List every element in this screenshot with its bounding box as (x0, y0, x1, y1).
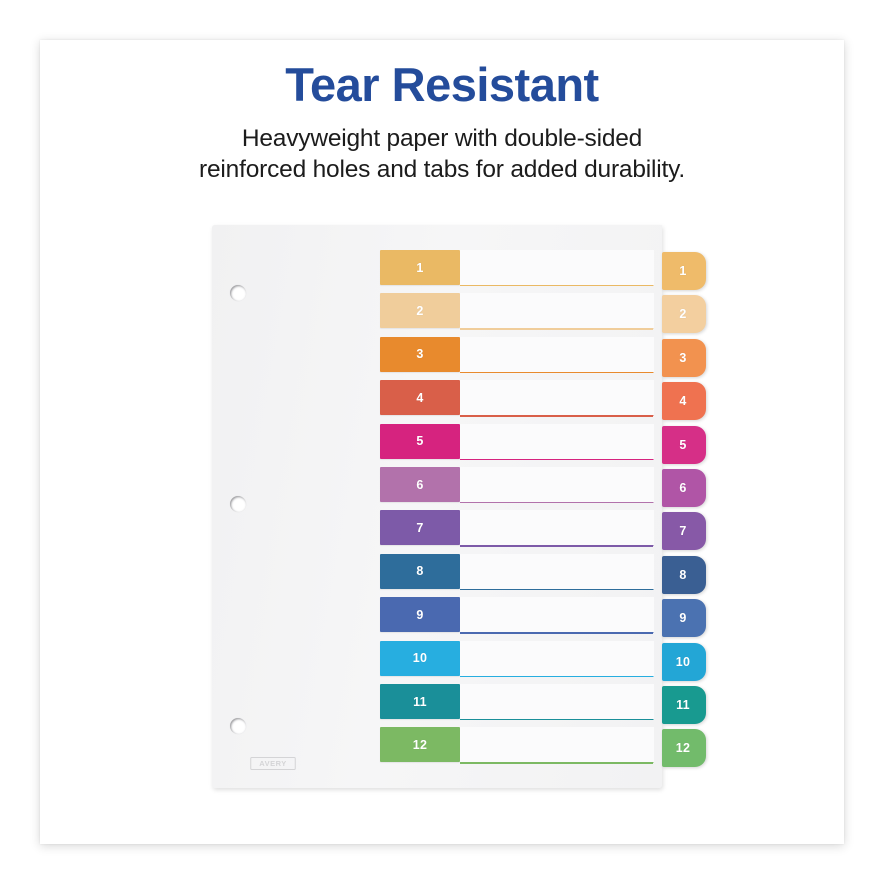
divider-number-block: 3 (380, 337, 460, 372)
divider-edge-tab-label: 12 (676, 741, 691, 755)
divider-edge-tab-label: 8 (679, 568, 686, 582)
divider-number-block: 10 (380, 641, 460, 676)
divider-row: 6 (212, 467, 662, 509)
divider-row: 9 (212, 597, 662, 639)
page-subtitle-line-1: Heavyweight paper with double-sided (40, 123, 844, 154)
divider-write-on-area (460, 467, 654, 503)
divider-write-on-area (460, 554, 654, 590)
divider-write-on-area (460, 250, 654, 286)
divider-write-on-area (460, 510, 654, 546)
divider-number-block: 9 (380, 597, 460, 632)
page-title: Tear Resistant (40, 60, 844, 109)
divider-edge-tab-label: 2 (679, 307, 686, 321)
divider-write-on-area (460, 380, 654, 416)
divider-number-block: 5 (380, 424, 460, 459)
divider-edge-tab: 7 (662, 512, 706, 550)
divider-edge-tab-label: 6 (679, 481, 686, 495)
divider-edge-tab: 3 (662, 339, 706, 377)
divider-write-on-area (460, 424, 654, 460)
page-subtitle-line-2: reinforced holes and tabs for added dura… (40, 154, 844, 185)
divider-number-block: 12 (380, 727, 460, 762)
divider-row: 3 (212, 337, 662, 379)
divider-write-on-area (460, 597, 654, 633)
divider-number-label: 7 (416, 521, 423, 535)
divider-row: 10 (212, 641, 662, 683)
divider-write-on-area (460, 727, 654, 763)
divider-edge-tab: 4 (662, 382, 706, 420)
divider-edge-tab-label: 11 (676, 698, 690, 712)
divider-edge-tab: 8 (662, 556, 706, 594)
divider-number-block: 6 (380, 467, 460, 502)
divider-row: 2 (212, 293, 662, 335)
divider-number-block: 7 (380, 510, 460, 545)
divider-edge-tab: 9 (662, 599, 706, 637)
divider-number-block: 11 (380, 684, 460, 719)
divider-number-label: 10 (413, 651, 428, 665)
divider-sheet: 123456789101112 123456789101112 AVERY (212, 225, 662, 788)
divider-edge-tab: 2 (662, 295, 706, 333)
divider-side-tabs: 123456789101112 (662, 225, 714, 788)
divider-number-block: 4 (380, 380, 460, 415)
divider-edge-tab: 6 (662, 469, 706, 507)
divider-write-on-area (460, 684, 654, 720)
divider-row: 8 (212, 554, 662, 596)
divider-edge-tab: 5 (662, 426, 706, 464)
divider-rows: 123456789101112 (212, 225, 662, 788)
divider-number-label: 1 (416, 261, 423, 275)
divider-sheet-surface: 123456789101112 123456789101112 AVERY (212, 225, 662, 788)
product-card: Tear Resistant Heavyweight paper with do… (40, 40, 844, 844)
divider-edge-tab: 11 (662, 686, 706, 724)
divider-number-block: 2 (380, 293, 460, 328)
divider-number-label: 5 (416, 434, 423, 448)
divider-row: 7 (212, 510, 662, 552)
divider-number-block: 1 (380, 250, 460, 285)
divider-write-on-area (460, 293, 654, 329)
divider-edge-tab: 1 (662, 252, 706, 290)
divider-number-label: 3 (416, 347, 423, 361)
divider-number-label: 11 (413, 695, 427, 709)
divider-write-on-area (460, 337, 654, 373)
divider-number-label: 2 (416, 304, 423, 318)
divider-number-label: 12 (413, 738, 428, 752)
marketing-copy: Tear Resistant Heavyweight paper with do… (40, 60, 844, 186)
divider-row: 11 (212, 684, 662, 726)
divider-number-block: 8 (380, 554, 460, 589)
svg-text:AVERY: AVERY (259, 759, 287, 768)
divider-row: 1 (212, 250, 662, 292)
divider-number-label: 6 (416, 478, 423, 492)
divider-edge-tab-label: 4 (679, 394, 686, 408)
divider-row: 4 (212, 380, 662, 422)
divider-edge-tab-label: 3 (679, 351, 686, 365)
product-image-canvas: Tear Resistant Heavyweight paper with do… (0, 0, 884, 884)
divider-row: 5 (212, 424, 662, 466)
avery-logo: AVERY (250, 755, 296, 772)
divider-number-label: 4 (416, 391, 423, 405)
divider-write-on-area (460, 641, 654, 677)
page-subtitle: Heavyweight paper with double-sided rein… (40, 123, 844, 185)
divider-edge-tab: 12 (662, 729, 706, 767)
divider-edge-tab-label: 1 (679, 264, 686, 278)
divider-number-label: 8 (416, 564, 423, 578)
divider-edge-tab: 10 (662, 643, 706, 681)
divider-edge-tab-label: 7 (679, 524, 686, 538)
divider-edge-tab-label: 9 (679, 611, 686, 625)
divider-edge-tab-label: 10 (676, 655, 691, 669)
divider-number-label: 9 (416, 608, 423, 622)
divider-edge-tab-label: 5 (679, 438, 686, 452)
